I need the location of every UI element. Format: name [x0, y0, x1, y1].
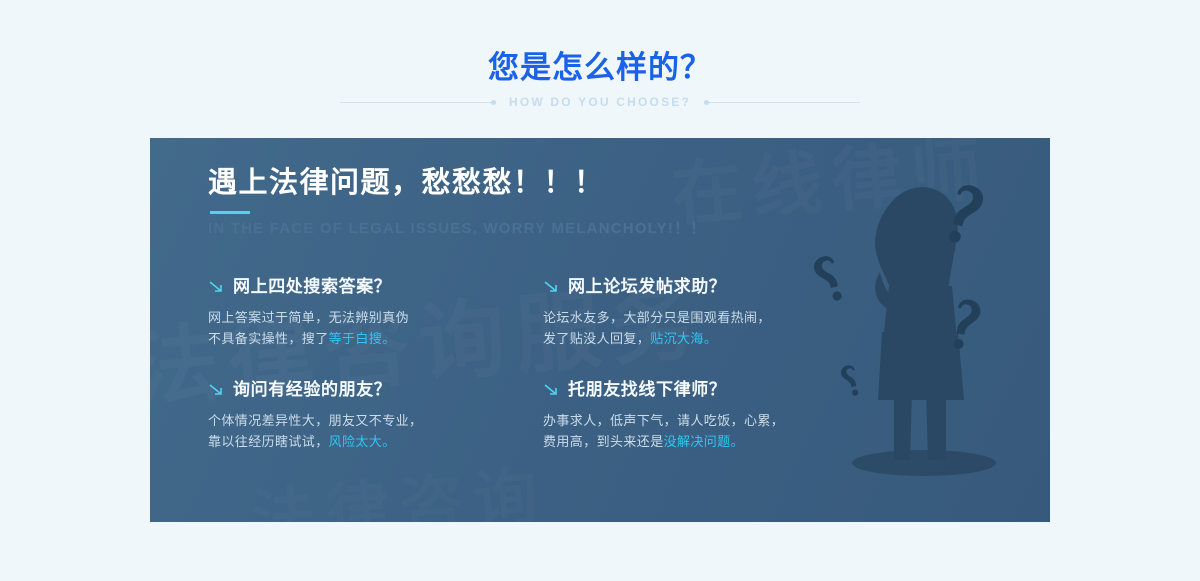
feature-line-text: 不具备实操性，搜了 [208, 331, 329, 346]
feature-block-title-row: 网上四处搜索答案？ [208, 276, 538, 298]
feature-line-highlight: 风险太大 [329, 434, 383, 449]
arrow-down-right-icon [543, 382, 561, 398]
feature-block-line-2: 费用高，到头来还是没解决问题。 [543, 431, 873, 452]
feature-block-line-2: 发了贴没人回复，贴沉大海。 [543, 328, 873, 349]
feature-block-body: 论坛水友多，大部分只是围观看热闹， 发了贴没人回复，贴沉大海。 [543, 307, 873, 349]
feature-block: 网上四处搜索答案？ 网上答案过于简单，无法辨别真伪 不具备实操性，搜了等于白搜。 [208, 276, 538, 349]
feature-block-line-1: 个体情况差异性大，朋友又不专业， [208, 410, 538, 431]
feature-block-title-row: 询问有经验的朋友？ [208, 379, 538, 401]
page-subtitle: HOW DO YOU CHOOSE? [509, 95, 691, 109]
divider-dot [491, 100, 496, 105]
feature-block-line-1: 办事求人，低声下气，请人吃饭，心累， [543, 410, 873, 431]
arrow-down-right-icon [543, 279, 561, 295]
feature-line-text: 发了贴没人回复， [543, 331, 650, 346]
page-subtitle-row: HOW DO YOU CHOOSE? [0, 92, 1200, 112]
feature-line-tail: 。 [382, 434, 395, 449]
page-header: 您是怎么样的？ HOW DO YOU CHOOSE? [0, 0, 1200, 138]
feature-line-highlight: 等于白搜 [329, 331, 383, 346]
feature-line-text: 费用高，到头来还是 [543, 434, 664, 449]
divider-bar [340, 102, 495, 103]
feature-block-line-2: 靠以往经历瞎试试，风险太大。 [208, 431, 538, 452]
feature-block: 询问有经验的朋友？ 个体情况差异性大，朋友又不专业， 靠以往经历瞎试试，风险太大… [208, 379, 538, 452]
feature-block-body: 办事求人，低声下气，请人吃饭，心累， 费用高，到头来还是没解决问题。 [543, 410, 873, 452]
divider-dot [704, 100, 709, 105]
divider-line-left [340, 98, 495, 107]
feature-block-title: 网上论坛发帖求助？ [568, 277, 726, 297]
feature-block-line-1: 网上答案过于简单，无法辨别真伪 [208, 307, 538, 328]
feature-line-highlight: 没解决问题 [664, 434, 731, 449]
heading-accent-underline [210, 211, 250, 214]
divider-bar [705, 102, 860, 103]
feature-block-body: 个体情况差异性大，朋友又不专业， 靠以往经历瞎试试，风险太大。 [208, 410, 538, 452]
arrow-down-right-icon [208, 279, 226, 295]
feature-block-line-2: 不具备实操性，搜了等于白搜。 [208, 328, 538, 349]
page-title: 您是怎么样的？ [0, 50, 1200, 86]
divider-line-right [705, 98, 860, 107]
panel-heading: 遇上法律问题，愁愁愁！！！ [208, 165, 605, 201]
content-panel: 法律咨询服务 在线律师 法律咨询 [150, 138, 1050, 522]
feature-block-line-1: 论坛水友多，大部分只是围观看热闹， [543, 307, 873, 328]
feature-line-highlight: 贴沉大海 [650, 331, 704, 346]
feature-line-tail: 。 [382, 331, 395, 346]
feature-block-title: 网上四处搜索答案？ [233, 277, 391, 297]
feature-block: 托朋友找线下律师？ 办事求人，低声下气，请人吃饭，心累， 费用高，到头来还是没解… [543, 379, 873, 452]
feature-block-title-row: 托朋友找线下律师？ [543, 379, 873, 401]
feature-line-text: 靠以往经历瞎试试， [208, 434, 329, 449]
feature-block-title: 询问有经验的朋友？ [233, 380, 391, 400]
arrow-down-right-icon [208, 382, 226, 398]
feature-block-title-row: 网上论坛发帖求助？ [543, 276, 873, 298]
feature-block-title: 托朋友找线下律师？ [568, 380, 726, 400]
feature-block-body: 网上答案过于简单，无法辨别真伪 不具备实操性，搜了等于白搜。 [208, 307, 538, 349]
panel-content: 遇上法律问题，愁愁愁！！！ IN THE FACE OF LEGAL ISSUE… [208, 138, 998, 522]
panel-subheading: IN THE FACE OF LEGAL ISSUES, WORRY MELAN… [208, 218, 706, 240]
feature-line-tail: 。 [731, 434, 744, 449]
feature-block: 网上论坛发帖求助？ 论坛水友多，大部分只是围观看热闹， 发了贴没人回复，贴沉大海… [543, 276, 873, 349]
feature-line-tail: 。 [704, 331, 717, 346]
